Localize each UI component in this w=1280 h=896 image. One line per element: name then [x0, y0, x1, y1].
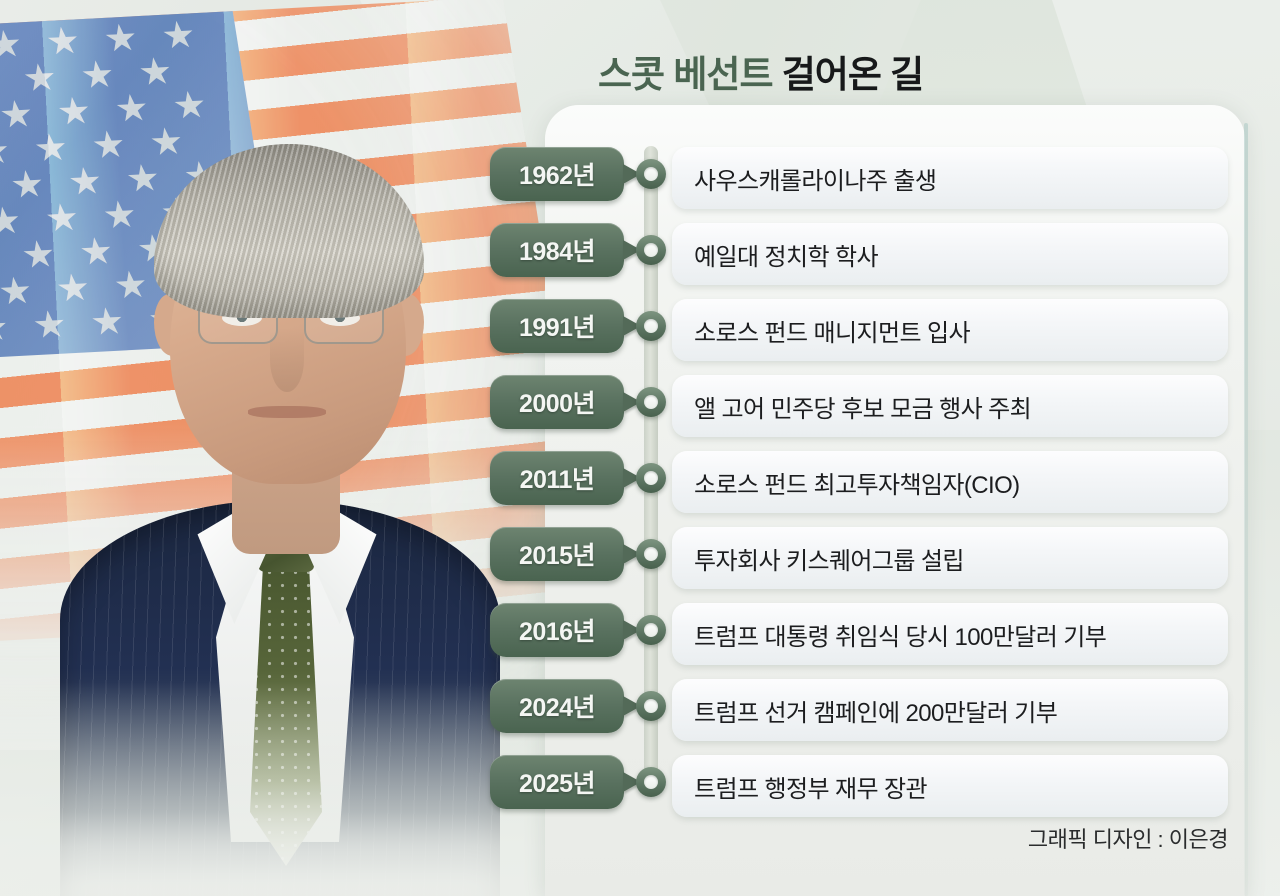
- timeline-item-card: 투자회사 키스퀘어그룹 설립: [672, 527, 1228, 589]
- timeline-event-text: 소로스 펀드 매니지먼트 입사: [672, 313, 970, 348]
- year-label: 1984년: [519, 232, 595, 268]
- infographic-root: 스콧 베선트 걸어온 길 1962년사우스캐롤라이나주 출생1984년예일대 정…: [0, 0, 1280, 896]
- timeline-event-text: 트럼프 선거 캠페인에 200만달러 기부: [672, 693, 1057, 728]
- year-label: 2015년: [519, 536, 595, 572]
- year-label: 2025년: [519, 764, 595, 800]
- timeline-marker-icon: [636, 311, 666, 341]
- mouth: [248, 406, 326, 418]
- year-badge: 1984년: [490, 223, 624, 277]
- year-badge: 2016년: [490, 603, 624, 657]
- title-rest: 걸어온 길: [772, 54, 923, 95]
- year-badge: 2025년: [490, 755, 624, 809]
- page-title: 스콧 베선트 걸어온 길: [598, 44, 923, 98]
- timeline-item-card: 트럼프 대통령 취임식 당시 100만달러 기부: [672, 603, 1228, 665]
- year-label: 2016년: [519, 612, 595, 648]
- year-label: 2000년: [519, 384, 595, 420]
- timeline-item-card: 앨 고어 민주당 후보 모금 행사 주최: [672, 375, 1228, 437]
- year-label: 1962년: [519, 156, 595, 192]
- timeline-event-text: 예일대 정치학 학사: [672, 237, 878, 272]
- timeline-marker-icon: [636, 767, 666, 797]
- hair-strands: [154, 144, 424, 318]
- timeline-item-card: 트럼프 행정부 재무 장관: [672, 755, 1228, 817]
- portrait-scott-bessent: [42, 82, 512, 896]
- year-badge: 2011년: [490, 451, 624, 505]
- timeline-event-text: 트럼프 대통령 취임식 당시 100만달러 기부: [672, 617, 1106, 652]
- timeline-marker-icon: [636, 387, 666, 417]
- timeline-marker-icon: [636, 235, 666, 265]
- year-label: 2024년: [519, 688, 595, 724]
- year-badge: 1991년: [490, 299, 624, 353]
- year-badge: 2024년: [490, 679, 624, 733]
- panel-edge-highlight: [1244, 123, 1248, 896]
- timeline-event-text: 트럼프 행정부 재무 장관: [672, 769, 927, 804]
- timeline-marker-icon: [636, 159, 666, 189]
- timeline-marker-icon: [636, 691, 666, 721]
- timeline-marker-icon: [636, 463, 666, 493]
- timeline-item-card: 예일대 정치학 학사: [672, 223, 1228, 285]
- timeline-event-text: 소로스 펀드 최고투자책임자(CIO): [672, 465, 1020, 500]
- year-badge: 2015년: [490, 527, 624, 581]
- year-label: 2011년: [520, 460, 595, 496]
- hair: [154, 144, 424, 318]
- timeline-marker-icon: [636, 539, 666, 569]
- year-badge: 1962년: [490, 147, 624, 201]
- timeline-event-text: 투자회사 키스퀘어그룹 설립: [672, 541, 964, 576]
- year-badge: 2000년: [490, 375, 624, 429]
- timeline-event-text: 앨 고어 민주당 후보 모금 행사 주최: [672, 389, 1031, 424]
- graphic-credit: 그래픽 디자인 : 이은경: [1028, 822, 1228, 854]
- year-label: 1991년: [519, 308, 595, 344]
- timeline-marker-icon: [636, 615, 666, 645]
- timeline-event-text: 사우스캐롤라이나주 출생: [672, 161, 936, 196]
- timeline-item-card: 소로스 펀드 최고투자책임자(CIO): [672, 451, 1228, 513]
- timeline-item-card: 트럼프 선거 캠페인에 200만달러 기부: [672, 679, 1228, 741]
- timeline-item-card: 사우스캐롤라이나주 출생: [672, 147, 1228, 209]
- timeline-item-card: 소로스 펀드 매니지먼트 입사: [672, 299, 1228, 361]
- title-highlight: 스콧 베선트: [598, 54, 772, 95]
